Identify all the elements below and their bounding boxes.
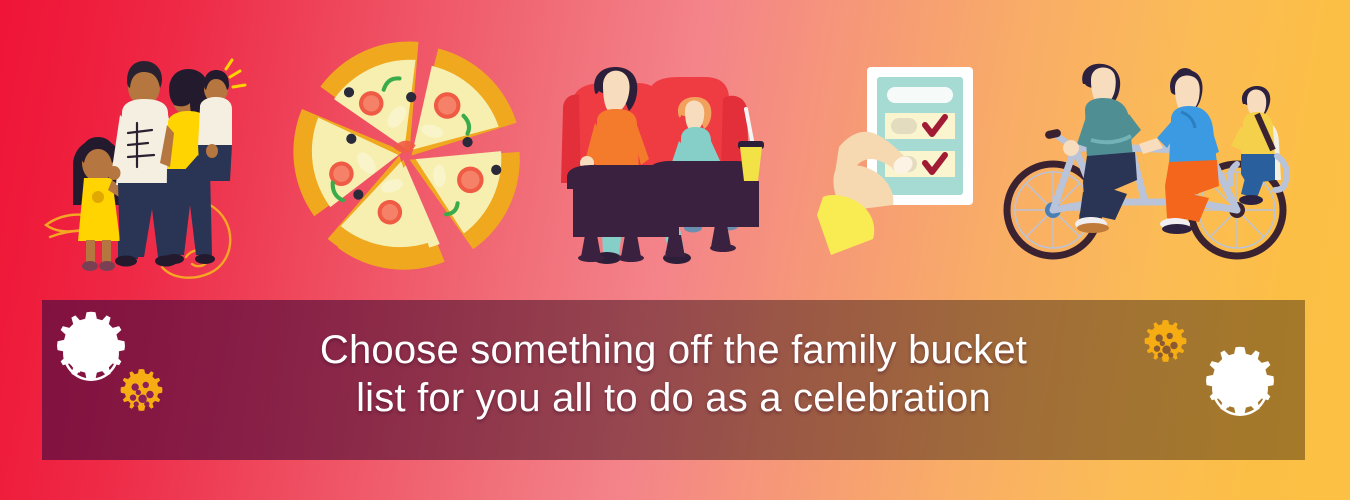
illustration-checklist-hand bbox=[815, 55, 1015, 275]
headline-bar: Choose something off the family bucket l… bbox=[42, 300, 1305, 460]
illustration-pizza-slices bbox=[285, 33, 530, 278]
checklist-row bbox=[885, 113, 955, 139]
cinema-seat-bases bbox=[567, 161, 759, 262]
figure-child-bike-seat bbox=[1230, 86, 1287, 205]
headline-line-1: Choose something off the family bucket bbox=[192, 326, 1155, 374]
illustration-tandem-bicycle-family bbox=[1005, 52, 1300, 277]
promo-banner: Choose something off the family bucket l… bbox=[0, 0, 1350, 500]
figure-woman-cyclist bbox=[1139, 68, 1219, 234]
headline-text: Choose something off the family bucket l… bbox=[42, 326, 1305, 422]
headline-line-2: list for you all to do as a celebration bbox=[192, 374, 1155, 422]
bicycle-wheels bbox=[1007, 164, 1283, 256]
illustration-cinema-seats bbox=[553, 55, 778, 275]
illustration-family-portrait bbox=[40, 45, 255, 285]
